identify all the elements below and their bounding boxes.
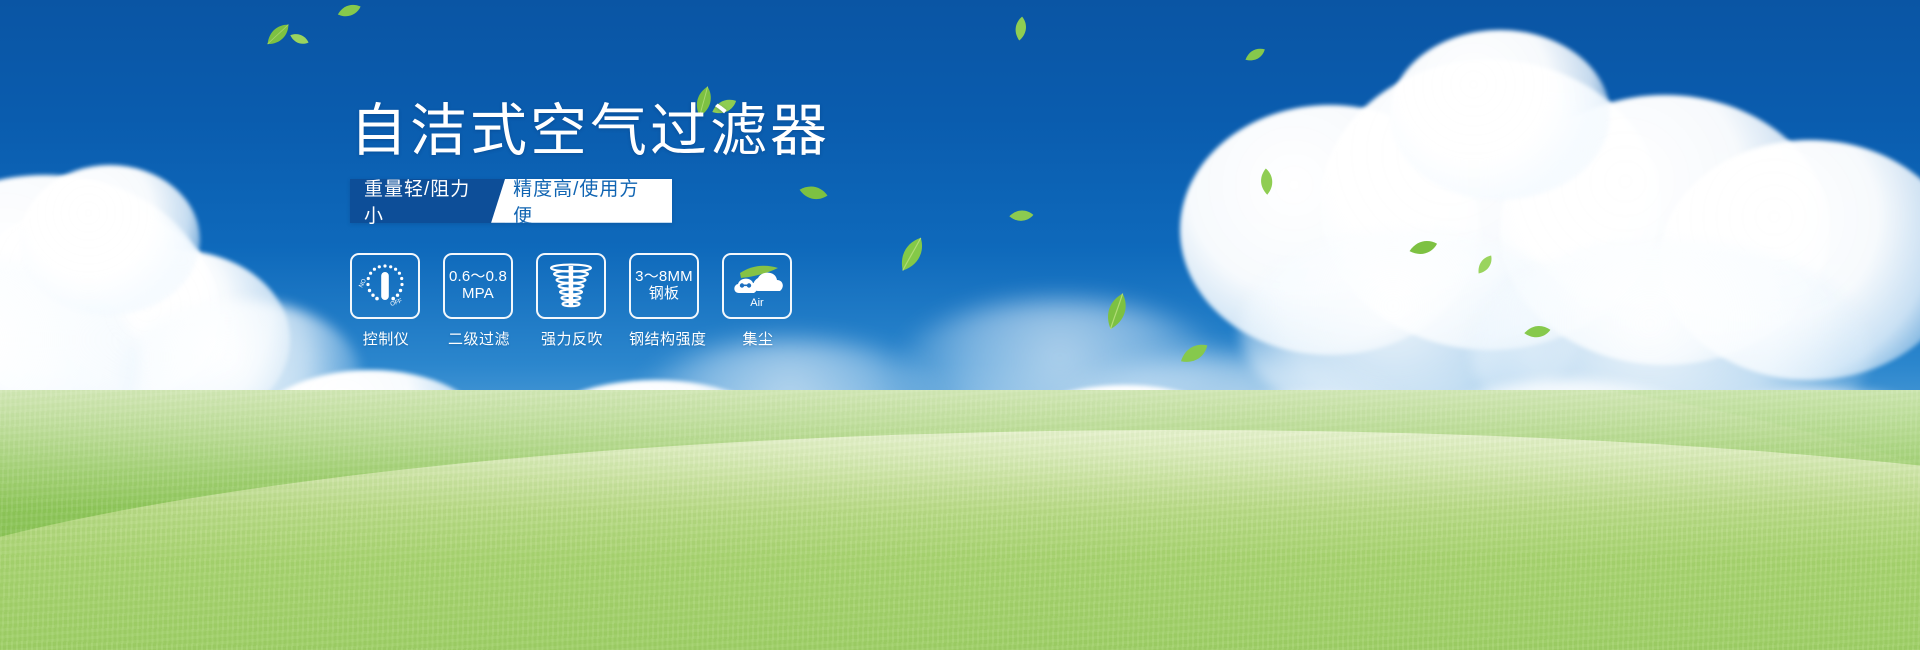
steel-plate-text-icon: 3～8MM 钢板: [635, 269, 693, 303]
coil-spring-icon: [547, 260, 595, 312]
feature-label: 二级过滤: [443, 328, 515, 349]
feature-label: 控制仪: [350, 328, 422, 349]
tagline-badge: 重量轻/阻力小 精度高/使用方便: [350, 179, 672, 223]
svg-text:NO: NO: [358, 278, 368, 289]
pressure-text-icon: 0.6～0.8 MPA: [449, 269, 507, 303]
banner-content: 自洁式空气过滤器 重量轻/阻力小 精度高/使用方便: [350, 100, 970, 349]
feature-item-control-dial: NO OFF 控制仪: [350, 253, 422, 349]
tagline-badge-left: 重量轻/阻力小: [350, 179, 505, 223]
feature-item-dust: Air 集尘: [722, 253, 794, 349]
feature-item-pressure: 0.6～0.8 MPA 二级过滤: [443, 253, 515, 349]
page-title: 自洁式空气过滤器: [350, 100, 970, 163]
feature-label: 集尘: [722, 328, 794, 349]
feature-label: 强力反吹: [536, 328, 608, 349]
svg-text:OFF: OFF: [390, 298, 404, 308]
feature-label: 钢结构强度: [629, 328, 701, 349]
floating-leaf-icon: [1177, 337, 1210, 370]
feature-icon-box: 0.6～0.8 MPA: [443, 253, 513, 319]
feature-icon-box: NO OFF: [350, 253, 420, 319]
svg-text:Air: Air: [750, 297, 764, 309]
floating-leaf-icon: [1473, 253, 1497, 277]
air-cloud-icon: Air: [728, 260, 786, 312]
feature-icon-box: [536, 253, 606, 319]
feature-icon-box: Air: [722, 253, 792, 319]
feature-item-backblow: 强力反吹: [536, 253, 608, 349]
grass-field: [0, 390, 1920, 650]
promo-banner: 自洁式空气过滤器 重量轻/阻力小 精度高/使用方便: [0, 0, 1920, 650]
feature-icon-box: 3～8MM 钢板: [629, 253, 699, 319]
feature-item-steel: 3～8MM 钢板 钢结构强度: [629, 253, 701, 349]
feature-list: NO OFF 控制仪 0.6～0.8 MPA 二级过滤: [350, 253, 970, 349]
tagline-badge-right: 精度高/使用方便: [491, 179, 672, 223]
control-dial-icon: NO OFF: [357, 260, 413, 312]
